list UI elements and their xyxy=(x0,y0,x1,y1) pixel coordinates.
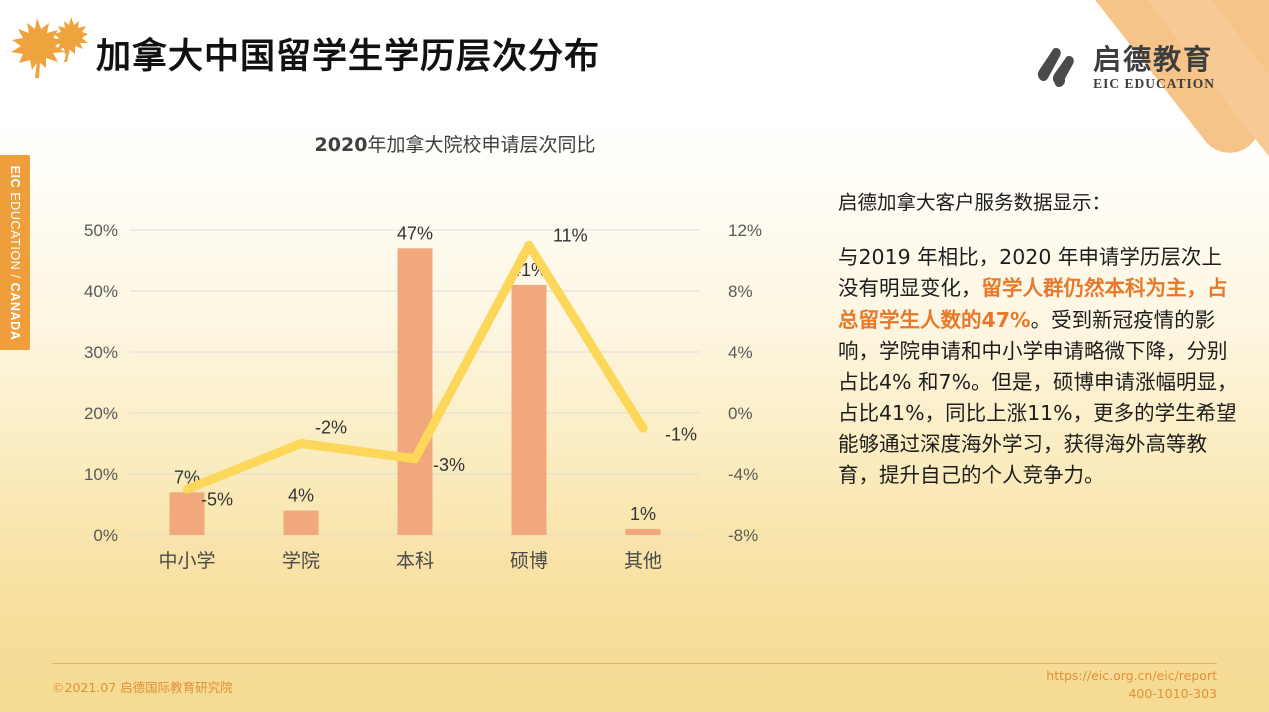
category-label: 中小学 xyxy=(158,550,215,572)
line-value-label: -1% xyxy=(665,424,697,444)
category-label: 学院 xyxy=(282,550,320,572)
text-panel: 启德加拿大客户服务数据显示： 与2019 年相比，2020 年申请学历层次上没有… xyxy=(838,188,1238,492)
left-axis-tick: 50% xyxy=(84,221,118,240)
page-title: 加拿大中国留学生学历层次分布 xyxy=(96,28,600,79)
left-axis-tick: 40% xyxy=(84,282,118,301)
line-value-label: -3% xyxy=(433,455,465,475)
right-axis-tick: 4% xyxy=(728,343,753,362)
brand-logo: 启德教育 EIC EDUCATION xyxy=(1036,44,1215,92)
chart-title-rest: 年加拿大院校申请层次同比 xyxy=(367,134,595,156)
eic-logo-mark-icon xyxy=(1036,44,1084,92)
text-panel-body: 与2019 年相比，2020 年申请学历层次上没有明显变化，留学人群仍然本科为主… xyxy=(838,242,1238,491)
left-axis-tick: 30% xyxy=(84,343,118,362)
chart-title-year: 2020 xyxy=(315,134,368,156)
bar xyxy=(284,511,319,535)
slide-canvas: EIC EDUCATION / CANADA 加拿大中国留学生学历层次分布 xyxy=(0,0,1269,712)
side-tab-bold-prefix: EIC xyxy=(8,165,22,188)
body-part-2: 。受到新冠疫情的影响，学院申请和中小学申请略微下降，分别占比4% 和7%。但是，… xyxy=(838,308,1238,488)
text-panel-lead: 启德加拿大客户服务数据显示： xyxy=(838,188,1238,217)
footer-copyright: ©2021.07 启德国际教育研究院 xyxy=(52,677,233,696)
footer-phone: 400-1010-303 xyxy=(1046,685,1217,704)
right-axis-tick: 0% xyxy=(728,404,753,423)
bar xyxy=(512,285,547,535)
footer-contact: https://eic.org.cn/eic/report 400-1010-3… xyxy=(1046,667,1217,705)
bar-value-label: 47% xyxy=(397,223,433,243)
right-axis-tick: 8% xyxy=(728,282,753,301)
line-value-label: -2% xyxy=(315,418,347,438)
side-tab-eic-canada: EIC EDUCATION / CANADA xyxy=(0,155,30,350)
right-axis-tick: 12% xyxy=(728,221,762,240)
left-axis-tick: 20% xyxy=(84,404,118,423)
chart-plot-area: 0%-8%10%-4%20%0%30%4%40%8%50%12%7%4%47%4… xyxy=(60,174,820,574)
chart-title: 2020年加拿大院校申请层次同比 xyxy=(60,130,820,157)
logo-text-cn: 启德教育 xyxy=(1093,46,1215,74)
right-axis-tick: -8% xyxy=(728,526,758,545)
maple-leaf-icon xyxy=(8,16,88,84)
footer-divider xyxy=(52,663,1217,664)
line-value-label: 11% xyxy=(553,225,588,245)
bar xyxy=(170,492,205,535)
category-label: 本科 xyxy=(396,550,434,572)
right-axis-tick: -4% xyxy=(728,465,758,484)
side-tab-mid: EDUCATION / xyxy=(8,188,22,282)
bar xyxy=(626,529,661,535)
left-axis-tick: 10% xyxy=(84,465,118,484)
bar-value-label: 4% xyxy=(288,486,314,506)
logo-text-en: EIC EDUCATION xyxy=(1093,77,1215,91)
category-label: 其他 xyxy=(624,550,662,572)
bar-value-label: 1% xyxy=(630,504,656,524)
side-tab-bold-suffix: CANADA xyxy=(8,282,22,340)
footer-url[interactable]: https://eic.org.cn/eic/report xyxy=(1046,667,1217,686)
left-axis-tick: 0% xyxy=(93,526,118,545)
category-label: 硕博 xyxy=(510,550,548,572)
combo-chart: 0%-8%10%-4%20%0%30%4%40%8%50%12%7%4%47%4… xyxy=(60,174,820,574)
bar xyxy=(398,248,433,535)
chart-container: 2020年加拿大院校申请层次同比 0%-8%10%-4%20%0%30%4%40… xyxy=(60,130,820,570)
line-value-label: -5% xyxy=(201,489,233,509)
side-tab-label: EIC EDUCATION / CANADA xyxy=(8,165,22,340)
